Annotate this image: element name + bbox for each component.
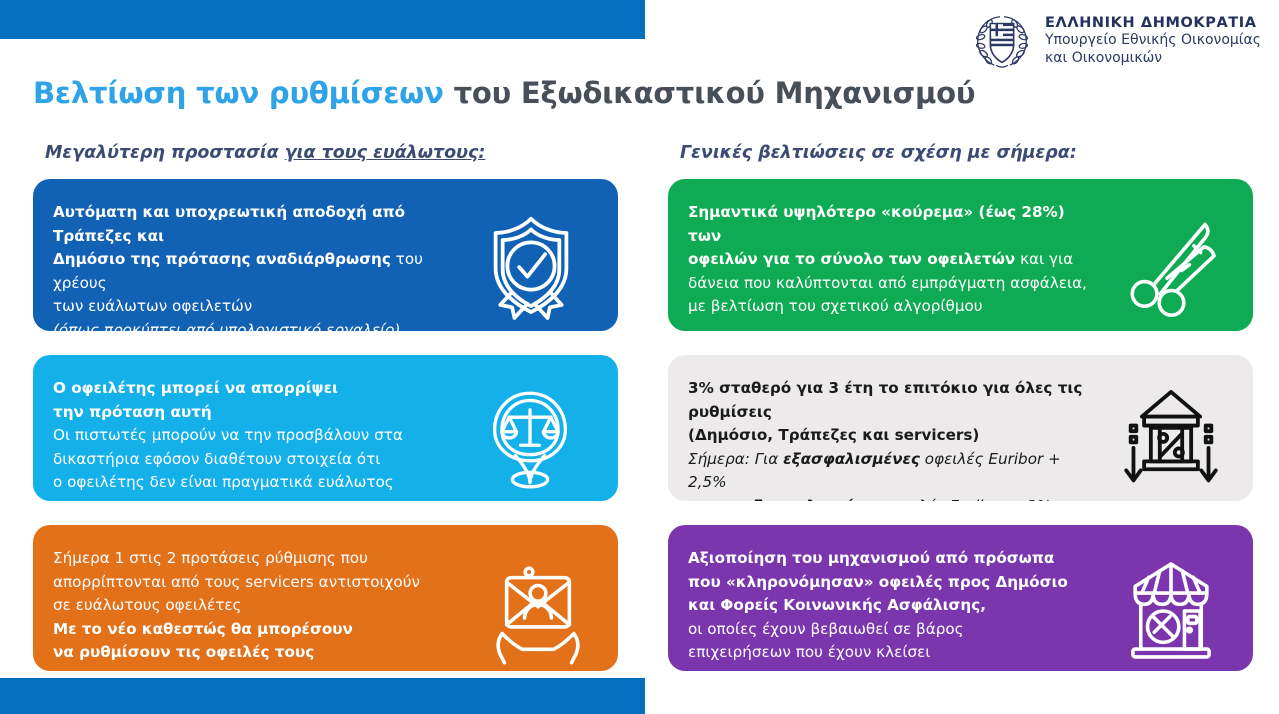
page-title-rest: του Εξωδικαστικού Μηχανισμού xyxy=(444,76,976,110)
line-text: επιχειρήσεων που έχουν κλείσει xyxy=(688,643,930,661)
card-inherited-debts: Αξιοποίηση του μηχανισμού από πρόσωπα πο… xyxy=(668,525,1253,671)
line-bold-part: εξασφαλισμένες xyxy=(783,450,920,468)
line-text: οι οποίες έχουν βεβαιωθεί σε βάρος xyxy=(688,620,964,638)
left-column: Μεγαλύτερη προστασία για τους ευάλωτους:… xyxy=(33,143,618,695)
line-text: απορρίπτονται από τους servicers αντιστο… xyxy=(53,573,420,591)
line-text: Αξιοποίηση του μηχανισμού από πρόσωπα xyxy=(688,549,1054,567)
card-debtor-can-reject: Ο οφειλέτης μπορεί να απορρίψει την πρότ… xyxy=(33,355,618,501)
line-text: που «κληρονόμησαν» οφειλές προς Δημόσιο xyxy=(688,573,1068,591)
card-inherited-debts-body: Αξιοποίηση του μηχανισμού από πρόσωπα πο… xyxy=(668,525,1253,671)
line-text: 3% σταθερό για 3 έτη το επιτόκιο για όλε… xyxy=(688,379,1082,421)
logo-text-block: ΕΛΛΗΝΙΚΗ ΔΗΜΟΚΡΑΤΙΑ Υπουργείο Εθνικής Οι… xyxy=(1045,14,1261,68)
line-text: Οι πιστωτές μπορούν να την προσβάλουν στ… xyxy=(53,426,403,444)
line-tail: οφειλές Euribor + 3% xyxy=(881,497,1051,501)
line-text: Ο οφειλέτης μπορεί να απορρίψει xyxy=(53,379,338,397)
line-text: δάνεια που καλύπτονται από εμπράγματη ασ… xyxy=(688,274,1087,292)
line-text: (όπως προκύπτει από υπολογιστικό εργαλεί… xyxy=(53,321,400,331)
line-text: των ευάλωτων οφειλετών xyxy=(53,297,252,315)
line-text: να ρυθμίσουν τις οφειλές τους xyxy=(53,643,314,661)
slide-canvas: ΕΛΛΗΝΙΚΗ ΔΗΜΟΚΡΑΤΙΑ Υπουργείο Εθνικής Οι… xyxy=(0,0,1279,714)
line-text: Σημαντικά υψηλότερο «κούρεμα» (έως 28%) … xyxy=(688,203,1065,245)
top-accent-bar xyxy=(0,0,645,39)
card-haircut: Σημαντικά υψηλότερο «κούρεμα» (έως 28%) … xyxy=(668,179,1253,331)
line-text: Με το νέο καθεστώς θα μπορέσουν xyxy=(53,620,353,638)
hellenic-republic-emblem xyxy=(971,10,1033,72)
card-rejected-proposals: Σήμερα 1 στις 2 προτάσεις ρύθμισης που α… xyxy=(33,525,618,671)
line-text: Σήμερα: Για xyxy=(688,450,783,468)
line-text: Δημόσιο της πρότασης αναδιάρθρωσης xyxy=(53,250,391,268)
logo-line-2: Υπουργείο Εθνικής Οικονομίας xyxy=(1045,32,1261,50)
right-column: Γενικές βελτιώσεις σε σχέση με σήμερα: Σ… xyxy=(668,143,1253,695)
card-rejected-proposals-body: Σήμερα 1 στις 2 προτάσεις ρύθμισης που α… xyxy=(33,525,618,671)
page-title: Βελτίωση των ρυθμίσεων του Εξωδικαστικού… xyxy=(33,76,975,110)
line-text: για xyxy=(688,497,717,501)
left-column-header: Μεγαλύτερη προστασία για τους ευάλωτους: xyxy=(45,143,618,163)
line-text: Αυτόματη και υποχρεωτική αποδοχή από Τρά… xyxy=(53,203,405,245)
logo-line-3: και Οικονομικών xyxy=(1045,50,1261,68)
right-header-main: Γενικές βελτιώσεις σε σχέση με σήμερα: xyxy=(680,143,1077,163)
hellenic-republic-logo: ΕΛΛΗΝΙΚΗ ΔΗΜΟΚΡΑΤΙΑ Υπουργείο Εθνικής Οι… xyxy=(971,10,1261,72)
line-text: (Δημόσιο, Τράπεζες και servicers) xyxy=(688,426,979,444)
right-column-header: Γενικές βελτιώσεις σε σχέση με σήμερα: xyxy=(680,143,1253,163)
left-header-underlined: για τους ευάλωτους: xyxy=(285,143,486,163)
line-tail: και για xyxy=(1015,250,1073,268)
left-header-main: Μεγαλύτερη προστασία xyxy=(45,143,285,163)
line-text: Σήμερα 1 στις 2 προτάσεις ρύθμισης που xyxy=(53,549,368,567)
line-bold-part: μη εξασφαλισμένες xyxy=(717,497,881,501)
line-text: δικαστήρια εφόσον διαθέτουν στοιχεία ότι xyxy=(53,450,380,468)
logo-line-1: ΕΛΛΗΝΙΚΗ ΔΗΜΟΚΡΑΤΙΑ xyxy=(1045,14,1261,33)
card-haircut-body: Σημαντικά υψηλότερο «κούρεμα» (έως 28%) … xyxy=(668,179,1253,331)
card-auto-acceptance-body: Αυτόματη και υποχρεωτική αποδοχή από Τρά… xyxy=(33,179,618,331)
line-text: την πρόταση αυτή xyxy=(53,403,212,421)
card-interest-rate-body: 3% σταθερό για 3 έτη το επιτόκιο για όλε… xyxy=(668,355,1253,501)
line-text: σε ευάλωτους οφειλέτες xyxy=(53,596,241,614)
page-title-accent: Βελτίωση των ρυθμίσεων xyxy=(33,76,444,110)
card-auto-acceptance: Αυτόματη και υποχρεωτική αποδοχή από Τρά… xyxy=(33,179,618,331)
line-text: με βελτίωση του σχετικού αλγορίθμου xyxy=(688,297,983,315)
line-text: και Φορείς Κοινωνικής Ασφάλισης, xyxy=(688,596,986,614)
line-text: ο οφειλέτης δεν είναι πραγματικά ευάλωτο… xyxy=(53,473,394,491)
line-text: οφειλών για το σύνολο των οφειλετών xyxy=(688,250,1015,268)
card-interest-rate: 3% σταθερό για 3 έτη το επιτόκιο για όλε… xyxy=(668,355,1253,501)
card-debtor-can-reject-body: Ο οφειλέτης μπορεί να απορρίψει την πρότ… xyxy=(33,355,618,501)
